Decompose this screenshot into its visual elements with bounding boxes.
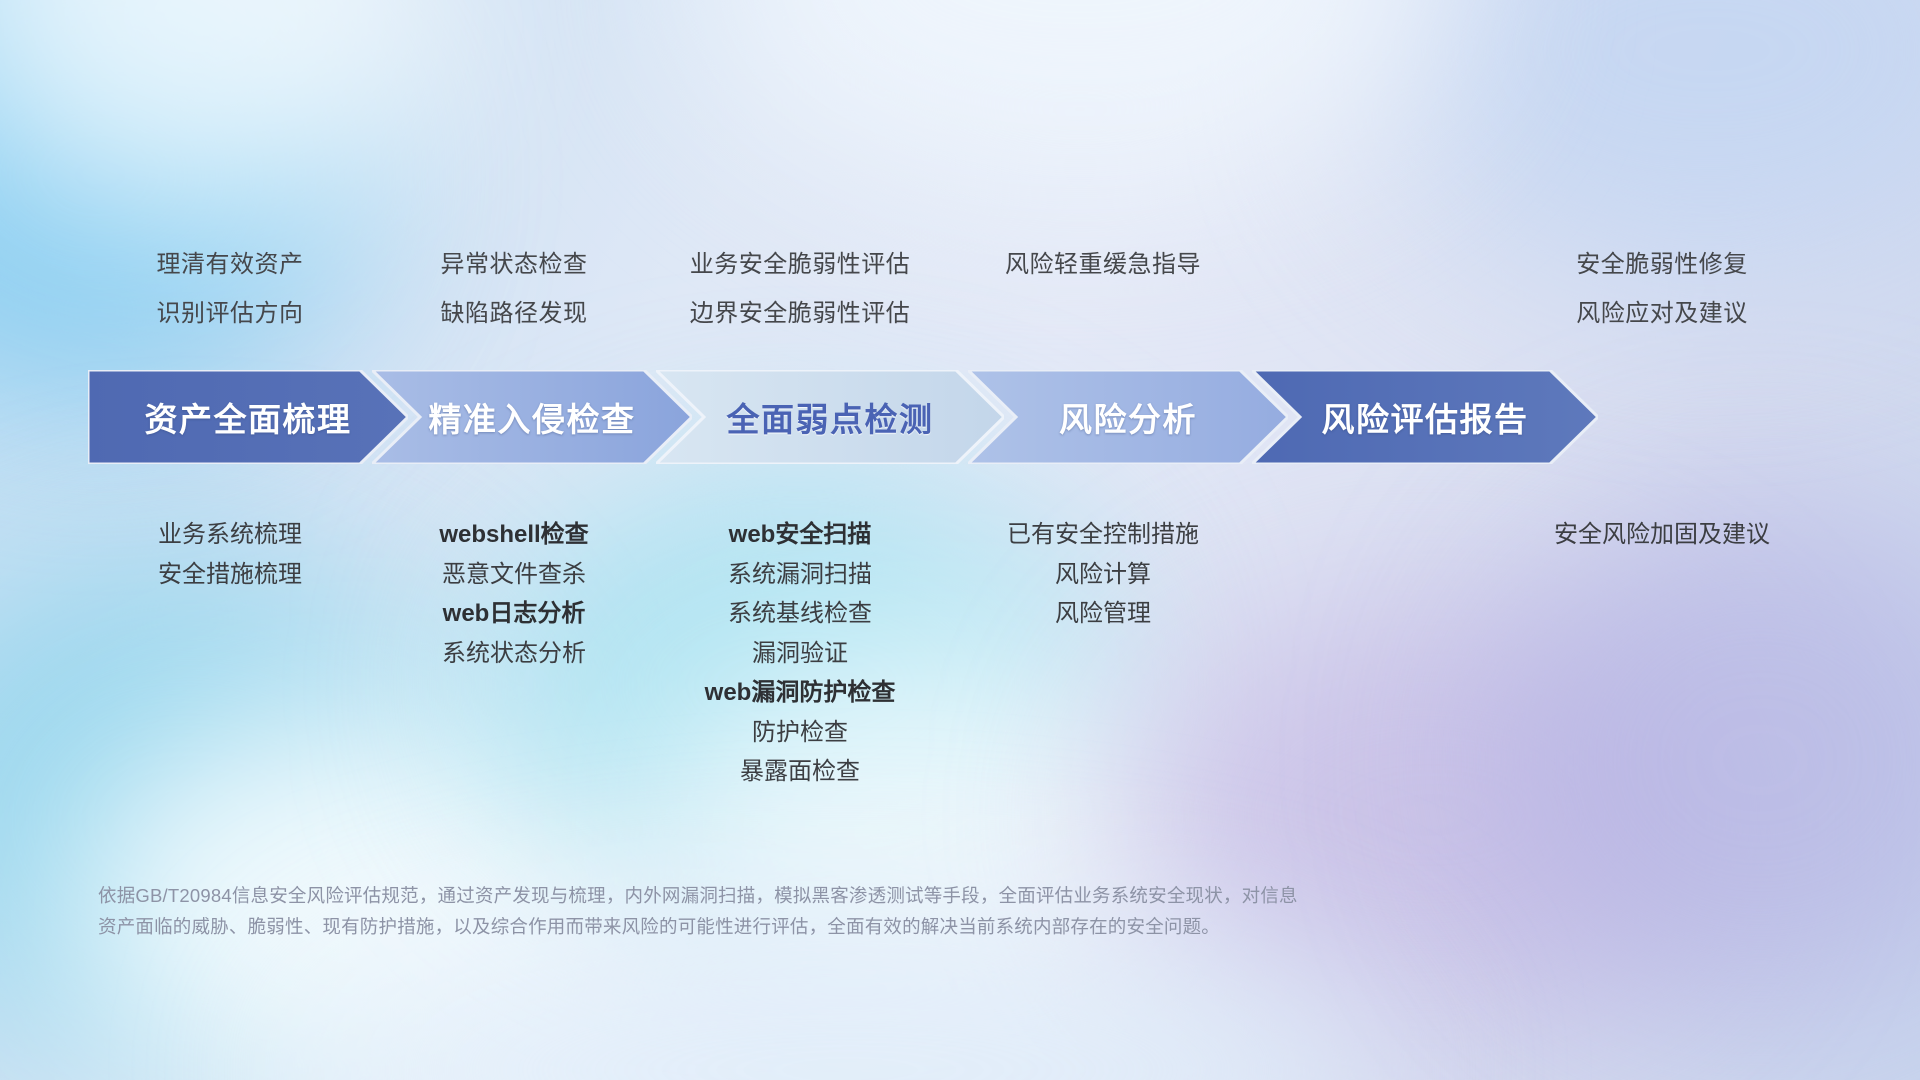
bottom-item: web漏洞防护检查 — [640, 673, 960, 713]
bottom-item: web日志分析 — [372, 594, 656, 634]
footer-line-2: 资产面临的威胁、脆弱性、现有防护措施，以及综合作用而带来风险的可能性进行评估，全… — [98, 911, 1638, 942]
stage-title: 全面弱点检测 — [727, 393, 934, 441]
bottom-item: webshell检查 — [372, 515, 656, 555]
bottom-item: 系统状态分析 — [372, 634, 656, 674]
bottom-item: 安全措施梳理 — [88, 555, 372, 595]
bottom-item: 业务系统梳理 — [88, 515, 372, 555]
bottom-item: 暴露面检查 — [640, 752, 960, 792]
stage-title: 资产全面梳理 — [145, 393, 352, 441]
stage-title: 精准入侵检查 — [429, 393, 636, 441]
bottom-item: 系统基线检查 — [640, 594, 960, 634]
bottom-item: 安全风险加固及建议 — [1520, 515, 1804, 555]
bottom-item: 风险管理 — [960, 594, 1246, 634]
footer-line-1: 依据GB/T20984信息安全风险评估规范，通过资产发现与梳理，内外网漏洞扫描，… — [98, 880, 1638, 911]
bottom-item: 恶意文件查杀 — [372, 555, 656, 595]
stage-title: 风险分析 — [1059, 393, 1197, 441]
bottom-item: 系统漏洞扫描 — [640, 555, 960, 595]
diagram-content: 理清有效资产 识别评估方向 异常状态检查 缺陷路径发现 业务安全脆弱性评估 边界… — [0, 0, 1920, 1080]
bottom-item: 已有安全控制措施 — [960, 515, 1246, 555]
bottom-item: 风险计算 — [960, 555, 1246, 595]
footer-description: 依据GB/T20984信息安全风险评估规范，通过资产发现与梳理，内外网漏洞扫描，… — [98, 880, 1638, 942]
bottom-item: 漏洞验证 — [640, 634, 960, 674]
bottom-item: web安全扫描 — [640, 515, 960, 555]
bottom-item: 防护检查 — [640, 713, 960, 753]
stage-title: 风险评估报告 — [1322, 393, 1529, 441]
